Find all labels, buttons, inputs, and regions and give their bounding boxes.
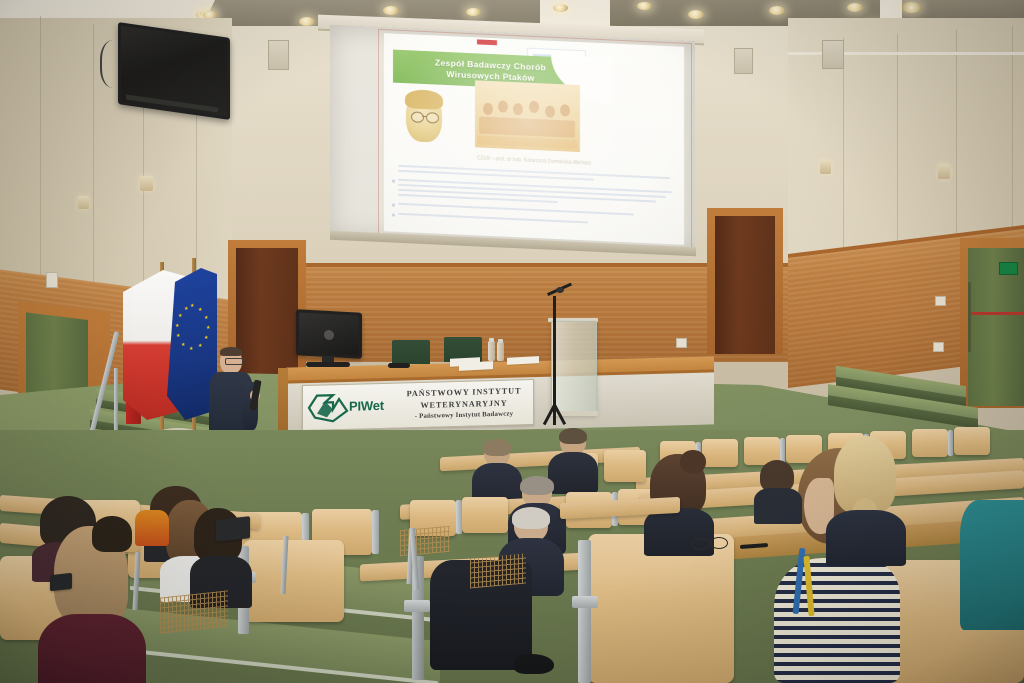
eyeglasses-on-desk-left[interactable] xyxy=(692,538,710,550)
wall-speaker-mid xyxy=(734,48,753,74)
seat-frame-right-big-2 xyxy=(578,540,591,683)
stage-chair-1[interactable] xyxy=(392,340,430,364)
eu-star-10: ★ xyxy=(175,324,179,329)
desk-monitor[interactable] xyxy=(296,309,362,358)
under-desk-basket-2 xyxy=(470,554,526,589)
wall-speaker-right xyxy=(822,40,844,69)
exit-sign-right xyxy=(999,262,1018,275)
seatback-far-7[interactable] xyxy=(912,429,948,457)
person-fgl5-hair xyxy=(92,516,132,552)
downlight-8 xyxy=(637,2,652,10)
wall-seam-r2 xyxy=(897,34,898,270)
seatback-b-2[interactable] xyxy=(462,497,508,533)
presenter-glasses xyxy=(225,358,243,365)
eu-star-3: ★ xyxy=(204,316,208,321)
exit-door-push-bar-right xyxy=(968,312,1024,315)
mic-stand-pole xyxy=(553,296,556,418)
projection-screen: Zespół Badawczy Chorób Wirusowych Ptaków xyxy=(330,25,695,254)
seat-frame-c-3 xyxy=(372,510,379,554)
eu-star-2: ★ xyxy=(198,308,202,313)
person-a1-hair xyxy=(483,439,511,456)
seat-bracket-right-2 xyxy=(572,596,598,608)
eu-star-6: ★ xyxy=(198,344,202,349)
wall-plate-3 xyxy=(676,338,687,348)
person-c1-hair xyxy=(512,507,550,529)
eu-star-9: ★ xyxy=(176,334,180,339)
eu-star-8: ★ xyxy=(181,343,185,348)
person-scarf xyxy=(135,510,169,546)
exit-door-hinge-right xyxy=(968,282,971,352)
downlight-5 xyxy=(383,6,399,15)
person-teal-body xyxy=(960,500,1024,630)
desk-microphone[interactable] xyxy=(388,363,410,368)
seatback-far-8[interactable] xyxy=(954,427,990,455)
desk-monitor-logo xyxy=(324,330,334,341)
water-bottle-cap-2 xyxy=(498,339,503,343)
piwet-logo: PIWet xyxy=(303,386,395,428)
eu-star-5: ★ xyxy=(204,336,208,341)
desk-monitor-foot xyxy=(306,362,350,367)
water-bottle-2[interactable] xyxy=(497,342,504,361)
podium-banner-text: PAŃSTWOWY INSTYTUT WETERYNARYJNY - Państ… xyxy=(395,385,533,422)
door-back-right xyxy=(715,216,775,354)
piwet-wordmark: PIWet xyxy=(349,398,384,414)
wall-sconce-3 xyxy=(140,176,153,191)
handrail-post-left xyxy=(114,368,118,434)
screen-keystone-outline xyxy=(378,29,692,250)
eu-star-1: ★ xyxy=(190,304,194,309)
lecture-hall-photo: Zespół Badawczy Chorób Wirusowych Ptaków xyxy=(0,0,1024,683)
downlight-9 xyxy=(688,10,704,19)
wall-plate-4 xyxy=(46,272,58,288)
wall-sconce-1 xyxy=(820,160,831,174)
eu-star-12: ★ xyxy=(184,307,188,312)
wall-sconce-4 xyxy=(78,196,89,209)
seat-frame-far-4 xyxy=(948,430,953,456)
eu-star-4: ★ xyxy=(206,326,210,331)
presenter-hair xyxy=(220,347,242,356)
person-bun-knot xyxy=(680,450,706,474)
lectern xyxy=(551,321,597,415)
wall-sconce-2 xyxy=(938,164,950,179)
seatback-right-big-2[interactable] xyxy=(588,534,734,683)
tablet-on-desk[interactable] xyxy=(216,516,250,542)
mic-capsule xyxy=(556,287,564,293)
phone-on-desk[interactable] xyxy=(50,573,72,591)
podium-banner: PIWet PAŃSTWOWY INSTYTUT WETERYNARYJNY -… xyxy=(302,379,534,431)
presenter-desk-side xyxy=(278,368,288,430)
dado-cap-back xyxy=(232,263,788,267)
seat-bracket-fg-center xyxy=(404,600,430,612)
downlight-11 xyxy=(847,3,863,12)
downlight-10 xyxy=(769,6,785,15)
person-blonde-body xyxy=(826,510,906,566)
person-a2-hair xyxy=(559,428,587,444)
water-bottle-1[interactable] xyxy=(488,341,495,361)
under-desk-basket-1 xyxy=(160,590,228,633)
wall-speaker-left xyxy=(268,40,289,70)
person-b1-hair xyxy=(520,476,554,495)
seatback-far-2[interactable] xyxy=(702,439,738,467)
mic-stand-leg-3 xyxy=(553,405,556,425)
wall-seam-r1 xyxy=(843,38,844,266)
downlight-12 xyxy=(902,2,921,13)
person-striped-pattern xyxy=(774,558,900,683)
person-fgc-shoe xyxy=(514,654,554,674)
water-bottle-cap-1 xyxy=(489,338,494,342)
person-fgl2-body xyxy=(38,614,146,683)
person-a2-body xyxy=(548,452,598,494)
person-striped-body xyxy=(774,558,900,683)
seatback-a-2[interactable] xyxy=(604,450,646,482)
downlight-4 xyxy=(299,17,315,26)
seat-frame-b-1 xyxy=(456,500,462,534)
eu-star-11: ★ xyxy=(178,314,182,319)
eyeglasses-on-desk-right[interactable] xyxy=(710,537,728,549)
wall-plate-2 xyxy=(933,342,944,352)
downlight-7 xyxy=(553,4,568,12)
wall-plate-1 xyxy=(935,296,946,306)
eu-star-7: ★ xyxy=(189,347,193,352)
door-back-left xyxy=(236,248,298,374)
downlight-6 xyxy=(466,8,481,16)
person-darkhead-body xyxy=(754,488,802,524)
seatback-fg-left-2[interactable] xyxy=(244,540,344,622)
